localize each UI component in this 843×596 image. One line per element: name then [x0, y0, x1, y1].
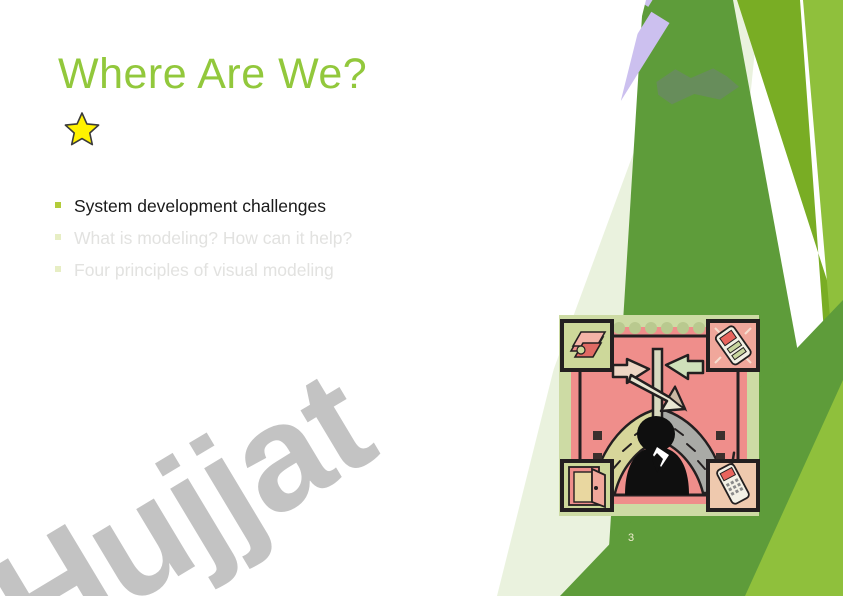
- slide-number: 3: [628, 532, 634, 544]
- page-title: Where Are We?: [58, 50, 367, 99]
- list-item-label: Four principles of visual modeling: [74, 256, 334, 285]
- bullet-square-icon: [55, 234, 61, 240]
- star-icon: [63, 110, 101, 148]
- bullet-list: System development challenges What is mo…: [55, 192, 575, 288]
- bullet-square-icon: [55, 202, 61, 208]
- list-item: System development challenges: [55, 192, 575, 221]
- crossroads-clipart: [557, 313, 761, 518]
- list-item: Four principles of visual modeling: [55, 256, 575, 285]
- list-item: What is modeling? How can it help?: [55, 224, 575, 253]
- bullet-square-icon: [55, 266, 61, 272]
- presentation-slide: 24 Hujjat Where Are We? System developme…: [0, 0, 843, 596]
- list-item-label: System development challenges: [74, 192, 326, 221]
- list-item-label: What is modeling? How can it help?: [74, 224, 352, 253]
